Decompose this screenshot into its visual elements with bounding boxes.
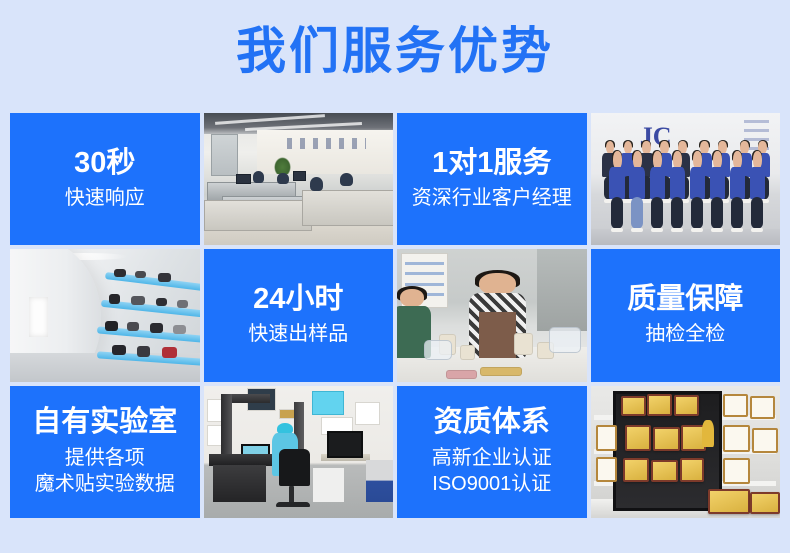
awards-wall-photo xyxy=(591,386,781,518)
packing-bag xyxy=(549,327,581,353)
material-roll xyxy=(514,333,533,355)
seated-employee xyxy=(340,173,353,186)
team-front-row xyxy=(594,151,776,230)
showroom-display-image xyxy=(10,249,200,381)
certificate-frame xyxy=(723,394,748,418)
certificate-frame xyxy=(723,425,750,451)
display-product xyxy=(158,273,171,282)
certificate-frame xyxy=(752,428,779,453)
award-plaque xyxy=(680,458,705,482)
certificate-frame xyxy=(750,396,775,419)
wall-document xyxy=(355,402,380,425)
display-product xyxy=(173,325,186,334)
display-product xyxy=(127,322,138,331)
metrology-lab-image xyxy=(204,386,394,518)
metrology-lab-photo xyxy=(204,386,394,518)
display-product xyxy=(156,298,167,306)
office-workspace-photo xyxy=(204,113,394,245)
desktop-monitor xyxy=(293,171,306,181)
office-plant xyxy=(274,157,291,174)
desktop-monitor xyxy=(327,431,363,459)
advantage-subtitle: 快速响应 xyxy=(65,186,145,212)
seated-employee xyxy=(277,173,288,185)
advantage-subtitle: ISO9001认证 xyxy=(432,472,551,498)
advantage-subtitle: 资深行业客户经理 xyxy=(412,186,572,212)
advantage-headline: 资质体系 xyxy=(434,406,550,438)
display-product xyxy=(114,269,125,277)
award-plaque xyxy=(750,492,780,515)
advantage-subtitle: 抽检全检 xyxy=(645,322,725,348)
advantage-cell-lab[interactable]: 自有实验室 提供各项 魔术贴实验数据 xyxy=(10,386,200,518)
office-desk xyxy=(302,190,393,226)
award-plaque xyxy=(674,395,699,416)
team-member xyxy=(709,151,726,230)
advantage-cell-quality[interactable]: 质量保障 抽检全检 xyxy=(591,249,781,381)
display-product xyxy=(109,294,120,303)
display-product xyxy=(150,323,163,332)
cmm-cabinet xyxy=(213,465,266,502)
advantage-headline: 24小时 xyxy=(253,283,343,315)
advantage-grid: 30秒 快速响应 xyxy=(10,113,780,518)
certificate-frame xyxy=(596,457,617,482)
display-product xyxy=(131,296,144,305)
award-plaque xyxy=(623,458,650,482)
display-product xyxy=(112,345,125,356)
wall-calligraphy xyxy=(287,138,367,149)
showroom-display-photo xyxy=(10,249,200,381)
award-plaque xyxy=(621,396,646,416)
packing-workers-photo xyxy=(397,249,587,381)
display-product xyxy=(135,271,146,279)
seated-employee xyxy=(253,171,264,183)
display-product xyxy=(162,347,177,358)
finished-goods xyxy=(446,370,476,379)
advantage-cell-one-on-one[interactable]: 1对1服务 资深行业客户经理 xyxy=(397,113,587,245)
display-product xyxy=(105,321,118,332)
team-member xyxy=(729,151,746,230)
advantage-headline: 30秒 xyxy=(74,147,135,179)
packing-workers-image xyxy=(397,249,587,381)
page-title-area: 我们服务优势 xyxy=(0,12,790,90)
advantage-cell-30s[interactable]: 30秒 快速响应 xyxy=(10,113,200,245)
award-plaque xyxy=(708,489,750,514)
advantage-headline: 质量保障 xyxy=(627,283,743,315)
certificate-frame xyxy=(723,458,750,483)
packing-bag xyxy=(424,340,453,361)
trophy-cup xyxy=(702,420,713,446)
award-plaque xyxy=(653,427,680,451)
advantage-subtitle: 高新企业认证 xyxy=(432,446,552,472)
awards-wall-image xyxy=(591,386,781,518)
team-group-photo: JC xyxy=(591,113,781,245)
team-member xyxy=(649,151,666,230)
team-member xyxy=(689,151,706,230)
service-advantages-banner: 我们服务优势 30秒 快速响应 xyxy=(0,0,790,553)
chair-base xyxy=(276,502,310,507)
advantage-headline: 1对1服务 xyxy=(432,147,551,179)
certificate-frame xyxy=(596,425,617,450)
team-member xyxy=(629,151,646,230)
team-member xyxy=(609,151,626,230)
advantage-cell-24h[interactable]: 24小时 快速出样品 xyxy=(204,249,394,381)
office-desk xyxy=(204,200,312,231)
office-workspace-image xyxy=(204,113,394,245)
display-niche xyxy=(29,297,48,337)
team-member xyxy=(669,151,686,230)
finished-goods xyxy=(480,367,522,376)
advantage-subtitle: 魔术贴实验数据 xyxy=(35,472,175,498)
advantage-cell-certification[interactable]: 资质体系 高新企业认证 ISO9001认证 xyxy=(397,386,587,518)
material-roll xyxy=(460,345,475,361)
background-shelving xyxy=(537,249,586,331)
equipment-box xyxy=(313,468,343,502)
team-member xyxy=(749,151,766,230)
advantage-headline: 自有实验室 xyxy=(32,406,177,438)
display-product xyxy=(177,300,188,308)
storage-cabinet xyxy=(366,460,393,502)
page-title: 我们服务优势 xyxy=(236,26,554,76)
cyan-poster xyxy=(312,391,344,415)
advantage-subtitle: 提供各项 xyxy=(65,446,145,472)
advantage-subtitle: 快速出样品 xyxy=(248,322,348,348)
award-plaque xyxy=(625,425,652,450)
glass-door xyxy=(211,134,238,176)
cmm-column xyxy=(221,394,232,463)
award-plaque xyxy=(651,460,678,483)
award-plaque xyxy=(647,394,672,417)
team-group-image: JC xyxy=(591,113,781,245)
seated-employee xyxy=(310,177,323,192)
display-product xyxy=(137,346,150,357)
office-chair xyxy=(279,449,309,486)
desktop-monitor xyxy=(236,174,251,184)
